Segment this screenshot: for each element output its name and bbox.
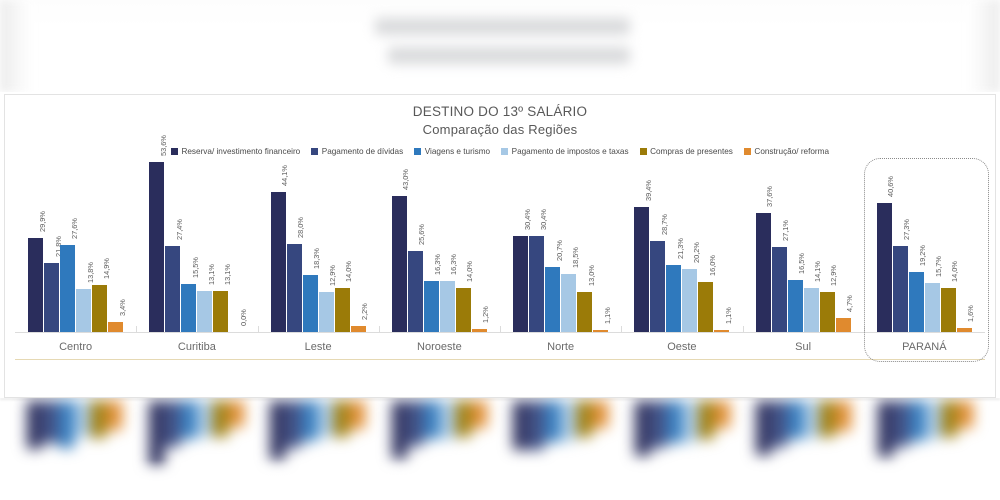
chart-subtitle: Comparação das Regiões bbox=[5, 122, 995, 137]
bar-value-label: 1,6% bbox=[966, 305, 975, 322]
legend-item-2[interactable]: Pagamento de dívidas bbox=[311, 147, 403, 156]
bar-slot: 13,1% bbox=[197, 162, 212, 333]
blurred-bar bbox=[926, 401, 941, 439]
blurred-bar bbox=[772, 401, 787, 447]
blurred-bar bbox=[699, 401, 714, 439]
bar[interactable]: 13,1% bbox=[197, 291, 212, 333]
header-right-shadow bbox=[966, 0, 1000, 92]
chart-legend: Reserva/ investimento financeiroPagament… bbox=[5, 147, 995, 156]
legend-label: Construção/ reforma bbox=[754, 147, 829, 156]
legend-label: Viagens e turismo bbox=[425, 147, 490, 156]
bar-slot: 27,3% bbox=[893, 162, 908, 333]
bar-group-leste: 44,1%28,0%18,3%12,9%14,0%2,2% bbox=[258, 162, 379, 333]
bar[interactable]: 40,6% bbox=[877, 203, 892, 333]
bar-slot: 2,2% bbox=[351, 162, 366, 333]
bar-slot: 14,9% bbox=[92, 162, 107, 333]
bar[interactable]: 28,0% bbox=[287, 244, 302, 333]
bar[interactable]: 28,7% bbox=[650, 241, 665, 333]
blurred-bar bbox=[107, 401, 122, 430]
bar-slot: 28,7% bbox=[650, 162, 665, 333]
bar-slot: 21,8% bbox=[44, 162, 59, 333]
legend-label: Pagamento de impostos e taxas bbox=[512, 147, 629, 156]
bar-slot: 14,0% bbox=[335, 162, 350, 333]
bar[interactable]: 27,4% bbox=[165, 246, 180, 333]
bar-group-noroeste: 43,0%25,6%16,3%16,3%14,0%1,2% bbox=[379, 162, 500, 333]
bar-slot: 27,4% bbox=[165, 162, 180, 333]
bar-slot: 28,0% bbox=[287, 162, 302, 333]
bar-slot: 37,6% bbox=[756, 162, 771, 333]
bar-slot: 18,5% bbox=[561, 162, 576, 333]
chart-card: DESTINO DO 13º SALÁRIO Comparação das Re… bbox=[4, 94, 996, 398]
bar-value-label: 1,2% bbox=[481, 306, 490, 323]
category-label-paran: PARANÁ bbox=[864, 333, 985, 360]
bar-slot: 29,9% bbox=[28, 162, 43, 333]
blurred-bars bbox=[14, 401, 986, 467]
bar-value-label: 2,2% bbox=[360, 303, 369, 320]
blurred-bar bbox=[318, 401, 333, 437]
blurred-bar bbox=[513, 401, 528, 450]
bar-slot: 30,4% bbox=[513, 162, 528, 333]
bar-slot: 16,0% bbox=[698, 162, 713, 333]
blurred-bar bbox=[424, 401, 439, 439]
blurred-bar bbox=[756, 401, 771, 455]
bar-slot: 43,0% bbox=[392, 162, 407, 333]
bar[interactable]: 21,3% bbox=[666, 265, 681, 333]
bar-slot: 30,4% bbox=[529, 162, 544, 333]
legend-label: Reserva/ investimento financeiro bbox=[181, 147, 300, 156]
bar-slot: 12,9% bbox=[319, 162, 334, 333]
bar-slot: 4,7% bbox=[836, 162, 851, 333]
blurred-footer-band bbox=[0, 398, 1000, 500]
legend-swatch-icon bbox=[501, 148, 508, 155]
bar[interactable]: 12,9% bbox=[319, 292, 334, 333]
legend-item-5[interactable]: Compras de presentes bbox=[640, 147, 733, 156]
legend-item-6[interactable]: Construção/ reforma bbox=[744, 147, 829, 156]
bar-value-label: 4,7% bbox=[845, 295, 854, 312]
legend-item-3[interactable]: Viagens e turismo bbox=[414, 147, 490, 156]
bar-slot: 13,0% bbox=[577, 162, 592, 333]
bar-slot: 1,1% bbox=[714, 162, 729, 333]
bar-group-norte: 30,4%30,4%20,7%18,5%13,0%1,1% bbox=[500, 162, 621, 333]
bar-slot: 18,3% bbox=[303, 162, 318, 333]
bar-value-label: 0,0% bbox=[239, 309, 248, 326]
category-label-oeste: Oeste bbox=[621, 333, 742, 360]
bar-slot: 0,0% bbox=[229, 162, 244, 333]
legend-item-1[interactable]: Reserva/ investimento financeiro bbox=[171, 147, 300, 156]
blurred-bar bbox=[561, 401, 576, 441]
bar[interactable]: 4,7% bbox=[836, 318, 851, 333]
blurred-bar bbox=[683, 401, 698, 442]
bar-slot: 13,1% bbox=[213, 162, 228, 333]
blurred-title-line-1 bbox=[375, 18, 630, 35]
blurred-bar bbox=[958, 401, 973, 428]
bar[interactable]: 27,3% bbox=[893, 246, 908, 333]
bar-slot: 14,0% bbox=[941, 162, 956, 333]
blurred-title-line-2 bbox=[388, 47, 630, 64]
bar-slot: 16,5% bbox=[788, 162, 803, 333]
blurred-bar-group bbox=[622, 401, 744, 467]
legend-swatch-icon bbox=[744, 148, 751, 155]
legend-label: Compras de presentes bbox=[650, 147, 733, 156]
blurred-bar bbox=[878, 401, 893, 457]
bar-slot: 44,1% bbox=[271, 162, 286, 333]
blurred-bar-group bbox=[865, 401, 987, 467]
bar[interactable]: 29,9% bbox=[28, 238, 43, 333]
legend-swatch-icon bbox=[171, 148, 178, 155]
bar[interactable]: 27,1% bbox=[772, 247, 787, 333]
blurred-bar bbox=[270, 401, 285, 460]
bar-value-label: 1,1% bbox=[603, 307, 612, 324]
blurred-bar bbox=[472, 401, 487, 428]
blurred-bar bbox=[651, 401, 666, 448]
category-label-leste: Leste bbox=[258, 333, 379, 360]
bar-slot: 14,0% bbox=[456, 162, 471, 333]
header-left-shadow bbox=[0, 0, 34, 92]
bar-slot: 15,5% bbox=[181, 162, 196, 333]
bar-slot: 40,6% bbox=[877, 162, 892, 333]
bar[interactable]: 30,4% bbox=[529, 236, 544, 333]
bar[interactable]: 44,1% bbox=[271, 192, 286, 333]
blurred-bar bbox=[529, 401, 544, 450]
bar-slot: 21,3% bbox=[666, 162, 681, 333]
category-label-norte: Norte bbox=[500, 333, 621, 360]
bar-slot: 25,6% bbox=[408, 162, 423, 333]
bar[interactable]: 43,0% bbox=[392, 196, 407, 333]
blurred-bar bbox=[43, 401, 58, 443]
bar-slot: 19,2% bbox=[909, 162, 924, 333]
blurred-bar bbox=[820, 401, 835, 437]
blurred-bar bbox=[715, 401, 730, 428]
bar[interactable]: 15,7% bbox=[925, 283, 940, 333]
footer-divider bbox=[0, 398, 1000, 400]
blurred-bar bbox=[350, 401, 365, 429]
bar-slot: 27,1% bbox=[772, 162, 787, 333]
bar-slot: 39,4% bbox=[634, 162, 649, 333]
blurred-bar-group bbox=[743, 401, 865, 467]
bar-slot: 16,3% bbox=[440, 162, 455, 333]
blurred-bar bbox=[59, 401, 74, 448]
blurred-bar bbox=[27, 401, 42, 449]
blurred-bar bbox=[635, 401, 650, 456]
bar-slot: 15,7% bbox=[925, 162, 940, 333]
bar[interactable]: 25,6% bbox=[408, 251, 423, 333]
bar[interactable]: 14,0% bbox=[941, 288, 956, 333]
bar-slot: 1,1% bbox=[593, 162, 608, 333]
blurred-bar bbox=[213, 401, 228, 437]
bar[interactable]: 16,3% bbox=[440, 281, 455, 333]
blurred-bar bbox=[165, 401, 180, 447]
bar[interactable]: 15,5% bbox=[181, 284, 196, 333]
blurred-bar-group bbox=[136, 401, 258, 467]
bar[interactable]: 13,8% bbox=[76, 289, 91, 333]
bar-slot: 20,2% bbox=[682, 162, 697, 333]
category-labels: CentroCuritibaLesteNoroesteNorteOesteSul… bbox=[15, 333, 985, 360]
bar[interactable]: 27,6% bbox=[60, 245, 75, 333]
bar-value-label: 53,6% bbox=[159, 135, 168, 156]
bar-groups: 29,9%21,8%27,6%13,8%14,9%3,4%53,6%27,4%1… bbox=[15, 162, 985, 333]
bar[interactable]: 53,6% bbox=[149, 162, 164, 333]
blurred-bar-group bbox=[500, 401, 622, 467]
bar[interactable]: 14,1% bbox=[804, 288, 819, 333]
blurred-bar bbox=[91, 401, 106, 438]
blurred-bar bbox=[286, 401, 301, 448]
blurred-bar bbox=[545, 401, 560, 442]
bar-slot: 53,6% bbox=[149, 162, 164, 333]
bar[interactable]: 18,5% bbox=[561, 274, 576, 333]
bar-slot: 1,6% bbox=[957, 162, 972, 333]
blurred-bar bbox=[942, 401, 957, 437]
bar-group-centro: 29,9%21,8%27,6%13,8%14,9%3,4% bbox=[15, 162, 136, 333]
blurred-bar bbox=[667, 401, 682, 443]
bar-group-paran: 40,6%27,3%19,2%15,7%14,0%1,6% bbox=[864, 162, 985, 333]
blurred-bar bbox=[75, 401, 90, 437]
footer-fade bbox=[0, 460, 1000, 500]
bar-value-label: 3,4% bbox=[118, 299, 127, 316]
blurred-bar bbox=[229, 401, 244, 427]
bar[interactable]: 37,6% bbox=[756, 213, 771, 333]
bar[interactable]: 19,2% bbox=[909, 272, 924, 333]
legend-label: Pagamento de dívidas bbox=[322, 147, 403, 156]
bar[interactable]: 21,8% bbox=[44, 263, 59, 333]
plot-area: 29,9%21,8%27,6%13,8%14,9%3,4%53,6%27,4%1… bbox=[5, 162, 995, 360]
legend-swatch-icon bbox=[311, 148, 318, 155]
bar[interactable]: 16,0% bbox=[698, 282, 713, 333]
blurred-bar bbox=[577, 401, 592, 437]
blurred-bar bbox=[804, 401, 819, 438]
chart-title: DESTINO DO 13º SALÁRIO bbox=[5, 104, 995, 119]
blurred-bar bbox=[408, 401, 423, 446]
bar[interactable]: 13,0% bbox=[577, 292, 592, 333]
bar[interactable]: 18,3% bbox=[303, 275, 318, 333]
blurred-bar-group bbox=[14, 401, 136, 467]
bar-slot: 3,4% bbox=[108, 162, 123, 333]
bar-slot: 20,7% bbox=[545, 162, 560, 333]
blurred-bar bbox=[197, 401, 212, 437]
screenshot-stage: DESTINO DO 13º SALÁRIO Comparação das Re… bbox=[0, 0, 1000, 500]
bar[interactable]: 20,2% bbox=[682, 269, 697, 333]
blurred-bar bbox=[392, 401, 407, 459]
blurred-bar bbox=[910, 401, 925, 441]
bar-slot: 12,9% bbox=[820, 162, 835, 333]
bar[interactable]: 14,9% bbox=[92, 285, 107, 333]
bar-slot: 14,1% bbox=[804, 162, 819, 333]
bar-group-oeste: 39,4%28,7%21,3%20,2%16,0%1,1% bbox=[621, 162, 742, 333]
blurred-bar bbox=[334, 401, 349, 437]
bar[interactable]: 13,1% bbox=[213, 291, 228, 333]
blurred-bar bbox=[149, 401, 164, 467]
bar-group-curitiba: 53,6%27,4%15,5%13,1%13,1%0,0% bbox=[136, 162, 257, 333]
bar[interactable]: 30,4% bbox=[513, 236, 528, 333]
blurred-bar bbox=[456, 401, 471, 437]
bar[interactable]: 20,7% bbox=[545, 267, 560, 333]
bar[interactable]: 12,9% bbox=[820, 292, 835, 333]
category-label-centro: Centro bbox=[15, 333, 136, 360]
bar[interactable]: 14,0% bbox=[335, 288, 350, 333]
blurred-bar-group bbox=[379, 401, 501, 467]
legend-swatch-icon bbox=[640, 148, 647, 155]
blurred-bar bbox=[836, 401, 851, 431]
legend-item-4[interactable]: Pagamento de impostos e taxas bbox=[501, 147, 628, 156]
category-label-sul: Sul bbox=[743, 333, 864, 360]
blurred-bar bbox=[788, 401, 803, 439]
blurred-bar bbox=[440, 401, 455, 439]
bar-group-sul: 37,6%27,1%16,5%14,1%12,9%4,7% bbox=[743, 162, 864, 333]
bar-value-label: 1,1% bbox=[724, 307, 733, 324]
bar-slot: 13,8% bbox=[76, 162, 91, 333]
blurred-bar bbox=[894, 401, 909, 447]
bar-slot: 16,3% bbox=[424, 162, 439, 333]
bar[interactable]: 16,3% bbox=[424, 281, 439, 333]
blurred-bar-group bbox=[257, 401, 379, 467]
blurred-bar bbox=[302, 401, 317, 441]
blurred-header-band bbox=[0, 0, 1000, 92]
category-label-noroeste: Noroeste bbox=[379, 333, 500, 360]
category-label-curitiba: Curitiba bbox=[136, 333, 257, 360]
legend-swatch-icon bbox=[414, 148, 421, 155]
bar[interactable]: 16,5% bbox=[788, 280, 803, 333]
blurred-bar bbox=[593, 401, 608, 428]
blurred-bar bbox=[181, 401, 196, 439]
bar-slot: 27,6% bbox=[60, 162, 75, 333]
bar-slot: 1,2% bbox=[472, 162, 487, 333]
bar[interactable]: 39,4% bbox=[634, 207, 649, 333]
bar[interactable]: 14,0% bbox=[456, 288, 471, 333]
